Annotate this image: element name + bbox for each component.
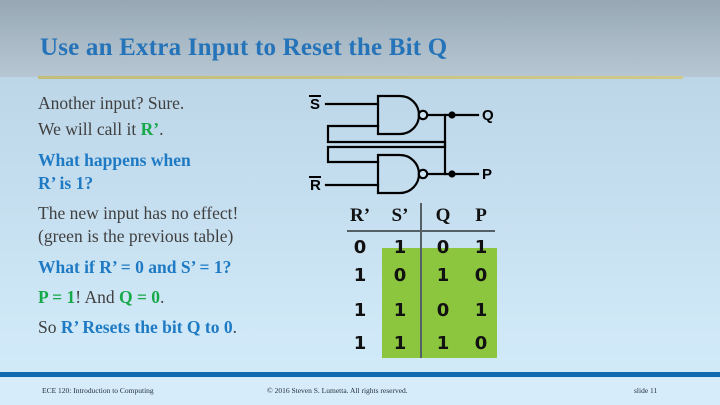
junction-dot-q <box>448 111 455 118</box>
nand-gate-top <box>378 96 419 134</box>
table-cell-r3-c1: 1 <box>387 333 413 354</box>
table-header-q: Q <box>430 205 456 227</box>
nand-bubble-top <box>419 111 427 119</box>
footer-copyright: © 2016 Steven S. Lumetta. All rights res… <box>267 386 408 395</box>
table-cell-r1-c0: 1 <box>347 265 373 286</box>
table-header-rule <box>347 230 495 232</box>
table-cell-r2-c2: 0 <box>430 300 456 321</box>
label-r-bar: R <box>310 177 321 194</box>
nand-gate-bottom <box>378 155 419 193</box>
table-cell-r1-c1: 0 <box>387 265 413 286</box>
table-cell-r1-c3: 0 <box>468 265 494 286</box>
question-what-happens-line2: R’ is 1? <box>38 172 313 195</box>
table-vertical-divider <box>420 203 422 358</box>
table-header-p: P <box>468 205 494 227</box>
text-we-will-call-it: We will call it <box>38 119 141 139</box>
text-r-prime-green: R’ <box>141 119 159 139</box>
overbar-r <box>309 176 321 178</box>
text-line7-period: . <box>233 317 237 337</box>
body-text-column: Another input? Sure. We will call it R’.… <box>38 92 313 342</box>
text-line-another-input: Another input? Sure. <box>38 92 313 115</box>
text-line6-period: . <box>160 287 164 307</box>
nand-bubble-bottom <box>419 170 427 178</box>
label-output-q: Q <box>482 107 494 124</box>
text-p-equals-1: P = 1 <box>38 287 75 307</box>
table-cell-r2-c0: 1 <box>347 300 373 321</box>
table-cell-r0-c3: 1 <box>468 237 494 258</box>
table-header-s-prime: S’ <box>387 205 413 227</box>
text-another-input: Another input? Sure. <box>38 93 184 113</box>
question-what-happens-line1: What happens when <box>38 149 313 172</box>
overbar-s <box>309 95 321 97</box>
text-q-equals-0: Q = 0 <box>119 287 160 307</box>
text-and-connector: ! And <box>75 287 119 307</box>
text-so-prefix: So <box>38 317 61 337</box>
table-cell-r1-c2: 1 <box>430 265 456 286</box>
footer-slide-number: slide 11 <box>634 386 657 395</box>
text-p-equals-q-equals: P = 1! And Q = 0. <box>38 286 313 309</box>
text-no-effect-line2: (green is the previous table) <box>38 225 313 248</box>
table-cell-r0-c0: 0 <box>347 237 373 258</box>
text-no-effect-line1: The new input has no effect! <box>38 202 313 225</box>
label-s-bar: S <box>310 96 320 113</box>
text-conclusion: So R’ Resets the bit Q to 0. <box>38 316 313 339</box>
junction-dot-p <box>448 170 455 177</box>
footer-course: ECE 120: Introduction to Computing <box>42 386 154 395</box>
table-cell-r2-c1: 1 <box>387 300 413 321</box>
slide: Use an Extra Input to Reset the Bit Q An… <box>0 0 720 405</box>
nand-latch-circuit-diagram: S R Q P <box>300 85 530 205</box>
label-output-p: P <box>482 166 492 183</box>
table-cell-r0-c1: 1 <box>387 237 413 258</box>
table-cell-r0-c2: 0 <box>430 237 456 258</box>
table-cell-r2-c3: 1 <box>468 300 494 321</box>
text-r-resets-bit: R’ Resets the bit Q to 0 <box>61 317 233 337</box>
table-cell-r3-c2: 1 <box>430 333 456 354</box>
table-cell-r3-c3: 0 <box>468 333 494 354</box>
title-divider-rule <box>38 76 683 79</box>
page-title: Use an Extra Input to Reset the Bit Q <box>40 34 447 62</box>
table-header-r-prime: R’ <box>347 205 373 227</box>
text-line-we-will-call-it: We will call it R’. <box>38 118 313 141</box>
truth-table: R’ S’ Q P 0 1 0 1 1 0 1 0 1 1 0 1 1 1 1 … <box>340 200 520 365</box>
circuit-svg <box>300 85 530 205</box>
table-cell-r3-c0: 1 <box>347 333 373 354</box>
text-period: . <box>159 119 163 139</box>
footer: ECE 120: Introduction to Computing © 201… <box>0 378 720 405</box>
question-what-if: What if R’ = 0 and S’ = 1? <box>38 256 313 279</box>
footer-accent-bar <box>0 372 720 377</box>
